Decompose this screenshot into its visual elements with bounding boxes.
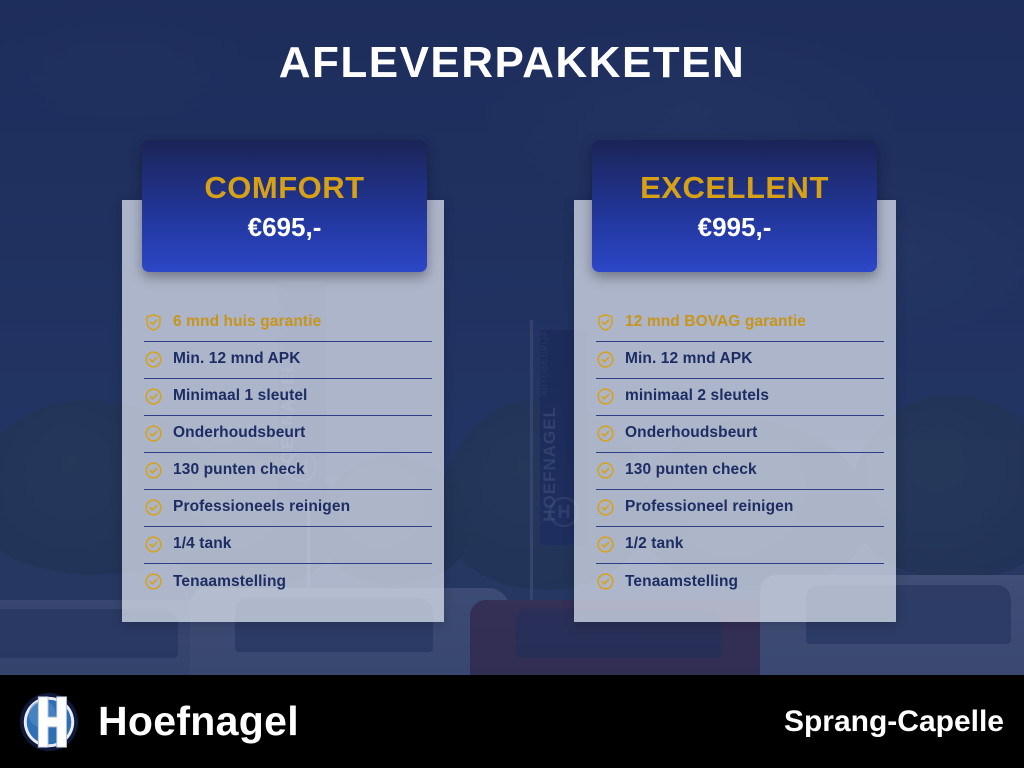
feature-row: Tenaamstelling — [144, 564, 432, 601]
feature-label: minimaal 2 sleutels — [625, 387, 769, 405]
feature-row: Onderhoudsbeurt — [144, 416, 432, 453]
circle-check-icon — [596, 535, 615, 554]
feature-label: Professioneel reinigen — [625, 498, 793, 516]
package-name: EXCELLENT — [640, 170, 829, 206]
feature-row: 130 punten check — [596, 453, 884, 490]
feature-row: Min. 12 mnd APK — [144, 342, 432, 379]
circle-check-icon — [144, 535, 163, 554]
package-name: COMFORT — [204, 170, 364, 206]
circle-check-icon — [596, 350, 615, 369]
feature-label: Tenaamstelling — [625, 573, 738, 591]
feature-row: Minimaal 1 sleutel — [144, 379, 432, 416]
feature-row: 1/4 tank — [144, 527, 432, 564]
hoefnagel-h-logo-icon — [18, 691, 80, 753]
feature-label: Tenaamstelling — [173, 573, 286, 591]
feature-label: 130 punten check — [173, 461, 305, 479]
circle-check-icon — [144, 498, 163, 517]
circle-check-icon — [596, 424, 615, 443]
feature-row: 1/2 tank — [596, 527, 884, 564]
package-price: €995,- — [698, 212, 772, 243]
brand-block: Hoefnagel — [0, 691, 299, 753]
feature-label: Min. 12 mnd APK — [173, 350, 301, 368]
circle-check-icon — [596, 498, 615, 517]
feature-label: 1/4 tank — [173, 535, 232, 553]
feature-label: 1/2 tank — [625, 535, 684, 553]
poster-root: AUTOBEDRIJF HOEFNAGEL AUTOBEDRIJF HOEFNA… — [0, 0, 1024, 768]
location-label: Sprang-Capelle — [784, 705, 1024, 739]
feature-row: Professioneels reinigen — [144, 490, 432, 527]
feature-list-excellent: 12 mnd BOVAG garantieMin. 12 mnd APKmini… — [596, 305, 884, 601]
feature-row: Professioneel reinigen — [596, 490, 884, 527]
package-header-comfort: COMFORT €695,- — [142, 140, 427, 272]
feature-label: Min. 12 mnd APK — [625, 350, 753, 368]
circle-check-icon — [144, 572, 163, 591]
brand-name: Hoefnagel — [98, 698, 299, 745]
circle-check-icon — [596, 461, 615, 480]
footer-bar: Hoefnagel Sprang-Capelle — [0, 675, 1024, 768]
circle-check-icon — [596, 387, 615, 406]
feature-label: Onderhoudsbeurt — [173, 424, 305, 442]
circle-check-icon — [596, 572, 615, 591]
feature-row: 12 mnd BOVAG garantie — [596, 305, 884, 342]
shield-check-icon — [144, 313, 163, 332]
feature-label: Minimaal 1 sleutel — [173, 387, 307, 405]
feature-row: 6 mnd huis garantie — [144, 305, 432, 342]
feature-label: 6 mnd huis garantie — [173, 313, 321, 331]
feature-label: Professioneels reinigen — [173, 498, 350, 516]
feature-label: 130 punten check — [625, 461, 757, 479]
package-price: €695,- — [248, 212, 322, 243]
feature-row: minimaal 2 sleutels — [596, 379, 884, 416]
circle-check-icon — [144, 387, 163, 406]
feature-row: 130 punten check — [144, 453, 432, 490]
circle-check-icon — [144, 350, 163, 369]
feature-row: Tenaamstelling — [596, 564, 884, 601]
feature-label: Onderhoudsbeurt — [625, 424, 757, 442]
page-title: AFLEVERPAKKETEN — [0, 38, 1024, 88]
feature-label: 12 mnd BOVAG garantie — [625, 313, 806, 331]
package-header-excellent: EXCELLENT €995,- — [592, 140, 877, 272]
circle-check-icon — [144, 424, 163, 443]
circle-check-icon — [144, 461, 163, 480]
shield-check-icon — [596, 313, 615, 332]
feature-list-comfort: 6 mnd huis garantieMin. 12 mnd APKMinima… — [144, 305, 432, 601]
feature-row: Onderhoudsbeurt — [596, 416, 884, 453]
feature-row: Min. 12 mnd APK — [596, 342, 884, 379]
